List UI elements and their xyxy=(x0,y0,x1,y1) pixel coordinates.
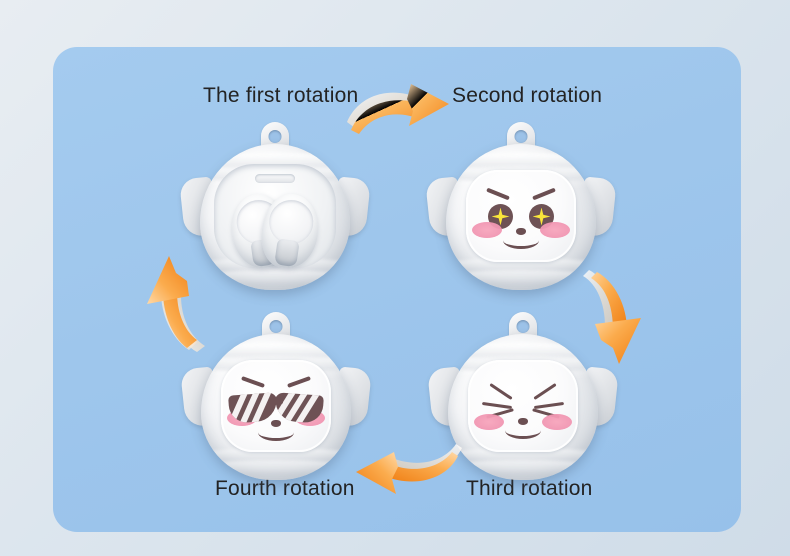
arrow-fourth-to-first-icon xyxy=(143,248,213,359)
right-whisker-upper xyxy=(533,383,556,400)
shell-ridge xyxy=(448,460,598,476)
shell-ridge xyxy=(200,270,350,286)
left-eyebrow xyxy=(241,376,265,388)
sunglasses-left-lens-icon xyxy=(228,392,278,423)
case-interior xyxy=(214,164,336,268)
right-eyebrow xyxy=(532,188,556,201)
left-whisker-upper xyxy=(489,383,512,400)
case-shell xyxy=(446,144,596,290)
mouth xyxy=(503,232,539,249)
right-whisker-mid xyxy=(534,402,564,409)
case-shell xyxy=(200,144,350,290)
case-shell xyxy=(448,334,598,480)
sunglasses-bridge xyxy=(269,400,283,404)
left-blush xyxy=(474,414,504,430)
left-eyebrow xyxy=(486,188,510,201)
right-eyebrow xyxy=(287,376,311,388)
case-shell xyxy=(201,334,351,480)
earbud-stem xyxy=(274,238,299,267)
right-blush xyxy=(542,414,572,430)
right-blush xyxy=(540,222,570,238)
earbud-case-step-2 xyxy=(428,122,614,292)
shell-ridge xyxy=(201,460,351,476)
caption-first-rotation: The first rotation xyxy=(203,84,358,108)
case-hinge xyxy=(255,174,295,183)
arrow-third-to-fourth-icon xyxy=(336,442,464,505)
arrow-second-to-third-icon xyxy=(583,268,655,377)
face-display-sunglasses xyxy=(221,360,331,452)
shell-ridge xyxy=(446,270,596,286)
face-display-whiskers xyxy=(468,360,578,452)
face-display-star-eyes xyxy=(466,170,576,262)
caption-second-rotation: Second rotation xyxy=(452,84,602,108)
mouth xyxy=(258,424,294,441)
mouth xyxy=(505,422,541,439)
screenshot-stage: The first rotation Second rotation Third… xyxy=(0,0,790,556)
left-whisker-mid xyxy=(482,402,512,409)
arrow-first-to-second-icon xyxy=(345,78,455,145)
left-blush xyxy=(472,222,502,238)
